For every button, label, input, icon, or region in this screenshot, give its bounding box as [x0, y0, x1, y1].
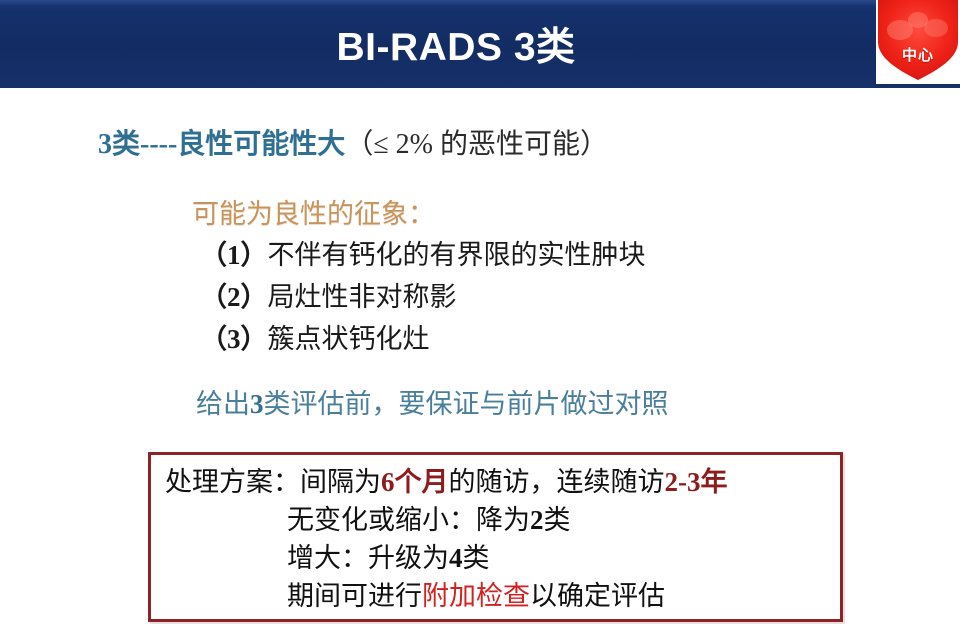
list-item-number: （2） — [200, 282, 268, 312]
plan-line1-b: 的随访，连续随访 — [449, 467, 665, 497]
plan-line-4: 期间可进行附加检查以确定评估 — [165, 577, 728, 615]
benign-signs-subheading: 可能为良性的征象： — [192, 192, 435, 231]
list-item-label: 不伴有钙化的有界限的实性肿块 — [268, 240, 646, 270]
plan-line4-b: 以确定评估 — [530, 581, 665, 611]
heart-shield-icon — [876, 0, 960, 84]
list-item-number: （3） — [200, 324, 268, 354]
plan-line-1: 处理方案：间隔为6个月的随访，连续随访2-3年 — [165, 463, 728, 501]
plan-line4-a: 期间可进行 — [287, 581, 422, 611]
plan-line-3: 增大：升级为4类 — [165, 539, 728, 577]
plan-line2-b: 类 — [544, 505, 571, 535]
comparison-note-emphasis: 3 — [250, 389, 264, 419]
list-item-label: 局灶性非对称影 — [268, 282, 457, 312]
comparison-note-suffix: 类评估前，要保证与前片做过对照 — [264, 389, 669, 419]
title-banner: BI-RADS 3类 — [0, 0, 960, 88]
plan-interval-highlight: 6个月 — [381, 467, 449, 497]
plan-line-2: 无变化或缩小：降为2类 — [165, 501, 728, 539]
plan-label: 处理方案： — [165, 467, 300, 497]
plan-line2-a: 无变化或缩小：降为 — [287, 505, 530, 535]
plan-line1-a: 间隔为 — [300, 467, 381, 497]
slide-content: 3类----良性可能性大（≤ 2% 的恶性可能） 可能为良性的征象： （1）不伴… — [0, 88, 960, 632]
list-item: （3）簇点状钙化灶 — [200, 318, 646, 360]
management-plan-box: 处理方案：间隔为6个月的随访，连续随访2-3年 无变化或缩小：降为2类 增大：升… — [148, 452, 843, 622]
category-heading-dark: （≤ 2% 的恶性可能） — [345, 129, 608, 160]
category-heading: 3类----良性可能性大（≤ 2% 的恶性可能） — [98, 122, 608, 162]
category-heading-blue: 3类----良性可能性大 — [98, 129, 345, 160]
plan-additional-exam-highlight: 附加检查 — [422, 581, 530, 611]
plan-line3-category: 4 — [449, 543, 463, 573]
comparison-note-prefix: 给出 — [196, 389, 250, 419]
plan-line3-b: 类 — [463, 543, 490, 573]
logo: 中心 — [876, 0, 960, 84]
plan-duration-highlight: 2-3年 — [665, 467, 728, 497]
comparison-note: 给出3类评估前，要保证与前片做过对照 — [196, 382, 669, 421]
plan-line2-category: 2 — [530, 505, 544, 535]
list-item: （1）不伴有钙化的有界限的实性肿块 — [200, 234, 646, 276]
list-item: （2）局灶性非对称影 — [200, 276, 646, 318]
page-title: BI-RADS 3类 — [336, 16, 575, 72]
list-item-number: （1） — [200, 240, 268, 270]
list-item-label: 簇点状钙化灶 — [268, 324, 430, 354]
benign-signs-list: （1）不伴有钙化的有界限的实性肿块 （2）局灶性非对称影 （3）簇点状钙化灶 — [200, 234, 646, 360]
management-plan-text: 处理方案：间隔为6个月的随访，连续随访2-3年 无变化或缩小：降为2类 增大：升… — [165, 463, 728, 615]
plan-line3-a: 增大：升级为 — [287, 543, 449, 573]
